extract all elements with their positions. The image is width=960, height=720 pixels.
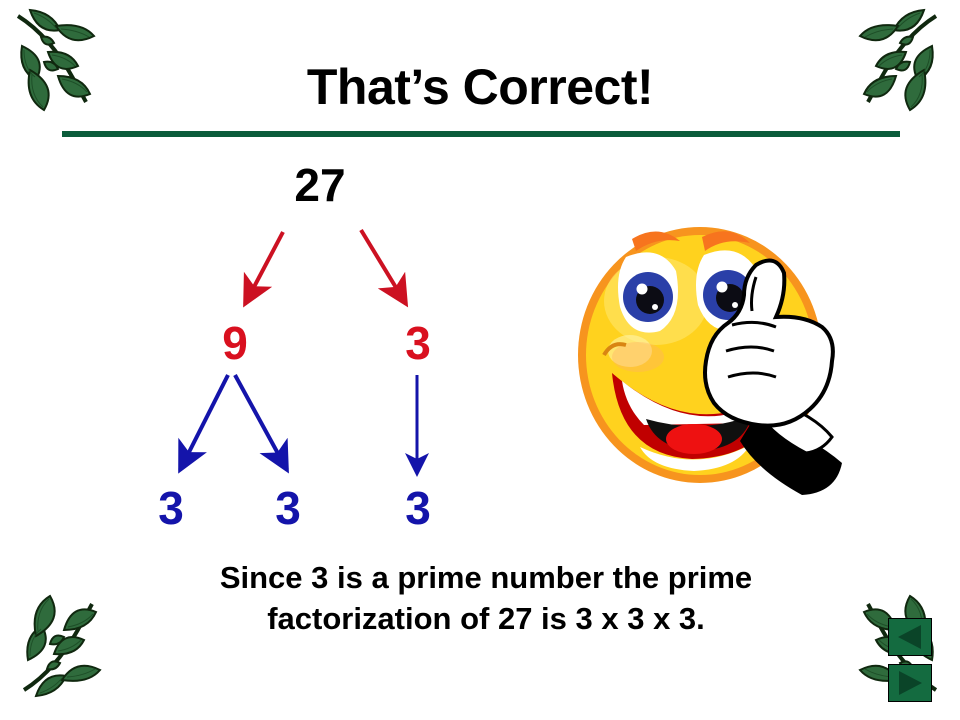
tree-node-9: 9 (195, 320, 275, 366)
arrow-9-to-3-right (235, 375, 287, 470)
page-title: That’s Correct! (0, 62, 960, 112)
tree-node-3-right: 3 (378, 320, 458, 366)
triangle-right-icon (889, 665, 931, 701)
tree-leaf-3-c: 3 (378, 485, 458, 531)
arrow-9-to-3-left (180, 375, 228, 470)
tree-leaf-3-a: 3 (131, 485, 211, 531)
triangle-left-icon (889, 619, 931, 655)
slide-canvas: That’s Correct! 27 9 (0, 0, 960, 720)
arrow-27-to-9 (245, 232, 283, 304)
tree-node-root: 27 (270, 162, 370, 208)
arrow-27-to-3 (361, 230, 406, 304)
title-divider (62, 131, 900, 137)
caption-line-2: factorization of 27 is 3 x 3 x 3. (96, 599, 876, 640)
next-slide-button[interactable] (888, 664, 932, 702)
previous-slide-button[interactable] (888, 618, 932, 656)
tree-leaf-3-b: 3 (248, 485, 328, 531)
factor-tree: 27 9 3 3 3 3 (0, 140, 560, 540)
caption-line-1: Since 3 is a prime number the prime (96, 558, 876, 599)
thumbs-up-smiley-icon (560, 205, 895, 500)
caption-text: Since 3 is a prime number the prime fact… (96, 558, 876, 640)
